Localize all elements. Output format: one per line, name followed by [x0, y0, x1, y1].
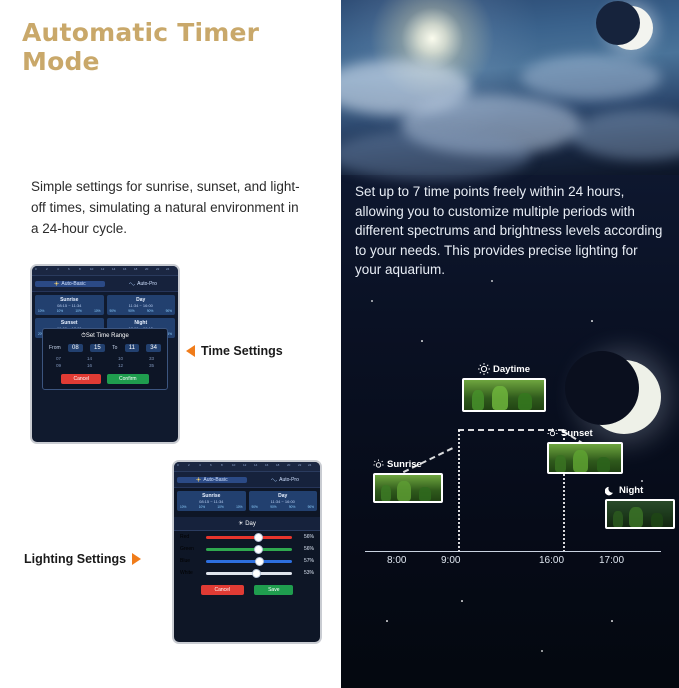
slider-value: 57% — [296, 558, 314, 564]
slider-knob[interactable] — [252, 569, 261, 578]
period-value: 5% — [167, 332, 172, 336]
ruler-tick: 2 — [188, 463, 190, 467]
aquarium-thumbnail-sunset[interactable] — [547, 442, 623, 474]
period-range: 08:15 ~ 11:34 — [180, 499, 243, 504]
sun-icon: ☀ — [238, 521, 243, 527]
ruler-tick: 14 — [254, 463, 257, 467]
ruler-tick: 18 — [276, 463, 279, 467]
timeline-axis — [365, 551, 661, 552]
period-value: 90% — [270, 505, 276, 509]
tab-auto-pro[interactable]: Auto-Pro — [108, 281, 178, 287]
slider-track[interactable] — [206, 560, 292, 563]
period-value: 10% — [217, 505, 223, 509]
crescent-moon-top-icon — [609, 6, 653, 50]
timepoint-label: Daytime — [493, 364, 530, 375]
ruler-tick: 18 — [134, 267, 137, 271]
slider-knob[interactable] — [255, 557, 264, 566]
period-range: 11:34 ~ 16:00 — [252, 499, 315, 504]
triangle-left-icon — [186, 345, 195, 357]
timepoint-label: Night — [619, 485, 643, 496]
callout-lighting-settings: Lighting Settings — [24, 552, 141, 566]
tab-auto-basic-label: Auto-Basic — [203, 477, 227, 483]
axis-label-17: 17:00 — [599, 555, 624, 566]
period-range: 08:15 ~ 11:34 — [38, 303, 101, 308]
slider-value: 56% — [296, 534, 314, 540]
period-card-sunrise[interactable]: Sunrise 08:15 ~ 11:34 10% 10% 10% 10% — [35, 295, 104, 315]
period-card-day[interactable]: Day 11:34 ~ 16:00 90% 90% 90% 90% — [249, 491, 318, 511]
slider-knob[interactable] — [254, 545, 263, 554]
mode-tabs[interactable]: Auto-Basic Auto-Pro — [32, 276, 178, 292]
sunset-icon — [547, 428, 558, 439]
cancel-button[interactable]: Cancel — [201, 585, 245, 595]
left-description: Simple settings for sunrise, sunset, and… — [31, 176, 303, 239]
timepoint-daytime: Daytime — [462, 363, 546, 412]
slider-track[interactable] — [206, 572, 292, 575]
callout-time-settings: Time Settings — [186, 344, 283, 358]
card-row: Sunrise 08:15 ~ 11:34 10% 10% 10% 10% Da… — [35, 295, 175, 315]
ruler-tick: 0 — [177, 463, 179, 467]
axis-label-9: 9:00 — [441, 555, 460, 566]
wheel-option[interactable]: 07 — [56, 356, 61, 361]
timepoint-night-label-row: Night — [605, 485, 675, 496]
period-card-list: Sunrise 08:15 ~ 11:34 10% 10% 10% 10% Da… — [174, 488, 320, 517]
period-value: 90% — [110, 309, 116, 313]
period-value: 10% — [199, 505, 205, 509]
time-wheels[interactable]: 07 09 14 16 10 12 33 35 — [43, 356, 167, 368]
axis-label-16: 16:00 — [539, 555, 564, 566]
timepoint-sunrise: Sunrise — [373, 459, 443, 503]
period-value: 90% — [147, 309, 153, 313]
cancel-button[interactable]: Cancel — [61, 374, 101, 384]
period-value: 90% — [166, 309, 172, 313]
sunrise-icon — [373, 459, 384, 470]
wheel-from-minute[interactable]: 14 16 — [87, 356, 92, 368]
slider-value: 53% — [296, 570, 314, 576]
to-hour-value[interactable]: 11 — [125, 344, 139, 352]
ruler-tick: 10 — [90, 267, 93, 271]
slider-value: 56% — [296, 546, 314, 552]
timepoint-daytime-label-row: Daytime — [462, 363, 546, 375]
triangle-right-icon — [132, 553, 141, 565]
slider-green[interactable]: Green 56% — [174, 543, 320, 555]
timeline-ruler: 0 2 4 6 8 10 12 14 16 18 20 22 24 — [174, 462, 320, 472]
timepoint-label: Sunset — [561, 428, 593, 439]
timepoint-night: Night — [605, 485, 675, 529]
timepoint-sunset: Sunset — [547, 428, 623, 474]
wheel-to-hour[interactable]: 10 12 — [118, 356, 123, 368]
aquarium-thumbnail-night[interactable] — [605, 499, 675, 529]
period-value: 10% — [236, 505, 242, 509]
period-value: 10% — [94, 309, 100, 313]
left-panel: Automatic Timer Mode Simple settings for… — [0, 0, 341, 688]
set-time-range-dialog: ⏱Set Time Range From 08 15 To 11 34 07 0… — [42, 328, 168, 390]
period-range: 11:34 ~ 16:00 — [110, 303, 173, 308]
tab-auto-pro-label: Auto-Pro — [137, 281, 157, 287]
tab-auto-basic[interactable]: Auto-Basic — [35, 281, 105, 287]
callout-time-settings-label: Time Settings — [201, 344, 283, 358]
day-section-label: Day — [245, 521, 256, 527]
aquarium-thumbnail-sunrise[interactable] — [373, 473, 443, 503]
wheel-option[interactable]: 16 — [87, 363, 92, 368]
dialog-title: Set Time Range — [86, 333, 129, 339]
right-panel: Set up to 7 time points freely within 24… — [341, 0, 679, 688]
phone-mockup-lighting-settings: 0 2 4 6 8 10 12 14 16 18 20 22 24 Auto-B… — [172, 460, 322, 644]
wheel-option[interactable]: 33 — [149, 356, 154, 361]
ruler-tick: 16 — [265, 463, 268, 467]
ruler-tick: 22 — [298, 463, 301, 467]
timeline-ruler: 0 2 4 6 8 10 12 14 16 18 20 22 24 — [32, 266, 178, 276]
ruler-tick: 16 — [123, 267, 126, 271]
timepoint-label: Sunrise — [387, 459, 422, 470]
wheel-option[interactable]: 35 — [149, 363, 154, 368]
to-minute-value[interactable]: 34 — [146, 344, 161, 352]
from-hour-value[interactable]: 08 — [68, 344, 83, 352]
mode-tabs[interactable]: Auto-Basic Auto-Pro — [174, 472, 320, 488]
tab-auto-pro-label: Auto-Pro — [279, 477, 299, 483]
slider-label: Red — [180, 534, 202, 540]
slider-white[interactable]: White 53% — [174, 567, 320, 579]
ruler-tick: 0 — [35, 267, 37, 271]
slider-label: White — [180, 570, 202, 576]
card-row: Sunrise 08:15 ~ 11:34 10% 10% 10% 10% Da… — [177, 491, 317, 511]
period-card-sunrise[interactable]: Sunrise 08:15 ~ 11:34 10% 10% 10% 10% — [177, 491, 246, 511]
crescent-moon-large-icon — [587, 360, 661, 434]
slider-blue[interactable]: Blue 57% — [174, 555, 320, 567]
tab-auto-basic[interactable]: Auto-Basic — [177, 477, 247, 483]
save-button[interactable]: Save — [254, 585, 293, 595]
dialog-buttons: Cancel Confirm — [43, 374, 167, 384]
confirm-button[interactable]: Confirm — [107, 374, 149, 384]
lighting-dialog-buttons: Cancel Save — [174, 585, 320, 595]
dialog-title-row: ⏱Set Time Range — [43, 333, 167, 340]
period-value: 90% — [308, 505, 314, 509]
sun-icon — [196, 477, 201, 482]
from-row: From 08 15 To 11 34 — [43, 344, 167, 352]
tab-auto-pro[interactable]: Auto-Pro — [250, 477, 320, 483]
ruler-tick: 6 — [210, 463, 212, 467]
ruler-tick: 6 — [68, 267, 70, 271]
period-value: 10% — [57, 309, 63, 313]
ruler-tick: 24 — [166, 267, 169, 271]
wave-icon — [129, 281, 135, 286]
ruler-tick: 12 — [101, 267, 104, 271]
period-value: 10% — [75, 309, 81, 313]
ruler-tick: 8 — [79, 267, 81, 271]
guide-line-9 — [458, 430, 460, 552]
timepoint-sunrise-label-row: Sunrise — [373, 459, 443, 470]
day-section-header: ☀ Day — [174, 517, 320, 531]
moon-icon — [605, 485, 616, 496]
slider-knob[interactable] — [254, 533, 263, 542]
slider-track[interactable] — [206, 536, 292, 539]
period-value: 90% — [128, 309, 134, 313]
period-card-day[interactable]: Day 11:34 ~ 16:00 90% 90% 90% 90% — [107, 295, 176, 315]
right-description: Set up to 7 time points freely within 24… — [355, 182, 667, 280]
ruler-tick: 22 — [156, 267, 159, 271]
from-minute-value[interactable]: 15 — [90, 344, 105, 352]
wheel-option[interactable]: 09 — [56, 363, 61, 368]
aquarium-thumbnail-daytime[interactable] — [462, 378, 546, 412]
wave-icon — [271, 477, 277, 482]
period-value: 90% — [289, 505, 295, 509]
ruler-tick: 2 — [46, 267, 48, 271]
period-value: 10% — [38, 309, 44, 313]
wheel-option[interactable]: 10 — [118, 356, 123, 361]
phone-mockup-time-settings: 0 2 4 6 8 10 12 14 16 18 20 22 24 Auto-B… — [30, 264, 180, 444]
page-root: Automatic Timer Mode Simple settings for… — [0, 0, 679, 688]
ruler-tick: 4 — [57, 267, 59, 271]
sun-icon — [54, 281, 59, 286]
callout-lighting-settings-label: Lighting Settings — [24, 552, 126, 566]
sun-icon — [478, 363, 490, 375]
ruler-tick: 20 — [145, 267, 148, 271]
slider-track[interactable] — [206, 548, 292, 551]
wheel-to-minute[interactable]: 33 35 — [149, 356, 154, 368]
ruler-tick: 14 — [112, 267, 115, 271]
timepoint-sunset-label-row: Sunset — [547, 428, 623, 439]
ruler-tick: 8 — [221, 463, 223, 467]
ruler-tick: 4 — [199, 463, 201, 467]
wheel-option[interactable]: 14 — [87, 356, 92, 361]
wheel-option[interactable]: 12 — [118, 363, 123, 368]
tab-auto-basic-label: Auto-Basic — [61, 281, 85, 287]
slider-red[interactable]: Red 56% — [174, 531, 320, 543]
ruler-tick: 20 — [287, 463, 290, 467]
slider-list: Red 56% Green 56% Blue 57% White — [174, 531, 320, 579]
page-title: Automatic Timer Mode — [22, 18, 341, 76]
ruler-tick: 12 — [243, 463, 246, 467]
ruler-tick: 10 — [232, 463, 235, 467]
to-label: To — [112, 345, 117, 351]
axis-label-8: 8:00 — [387, 555, 406, 566]
slider-label: Green — [180, 546, 202, 552]
period-value: 10% — [180, 505, 186, 509]
ruler-tick: 24 — [308, 463, 311, 467]
slider-label: Blue — [180, 558, 202, 564]
from-label: From — [49, 345, 61, 351]
wheel-from-hour[interactable]: 07 09 — [56, 356, 61, 368]
period-value: 90% — [252, 505, 258, 509]
